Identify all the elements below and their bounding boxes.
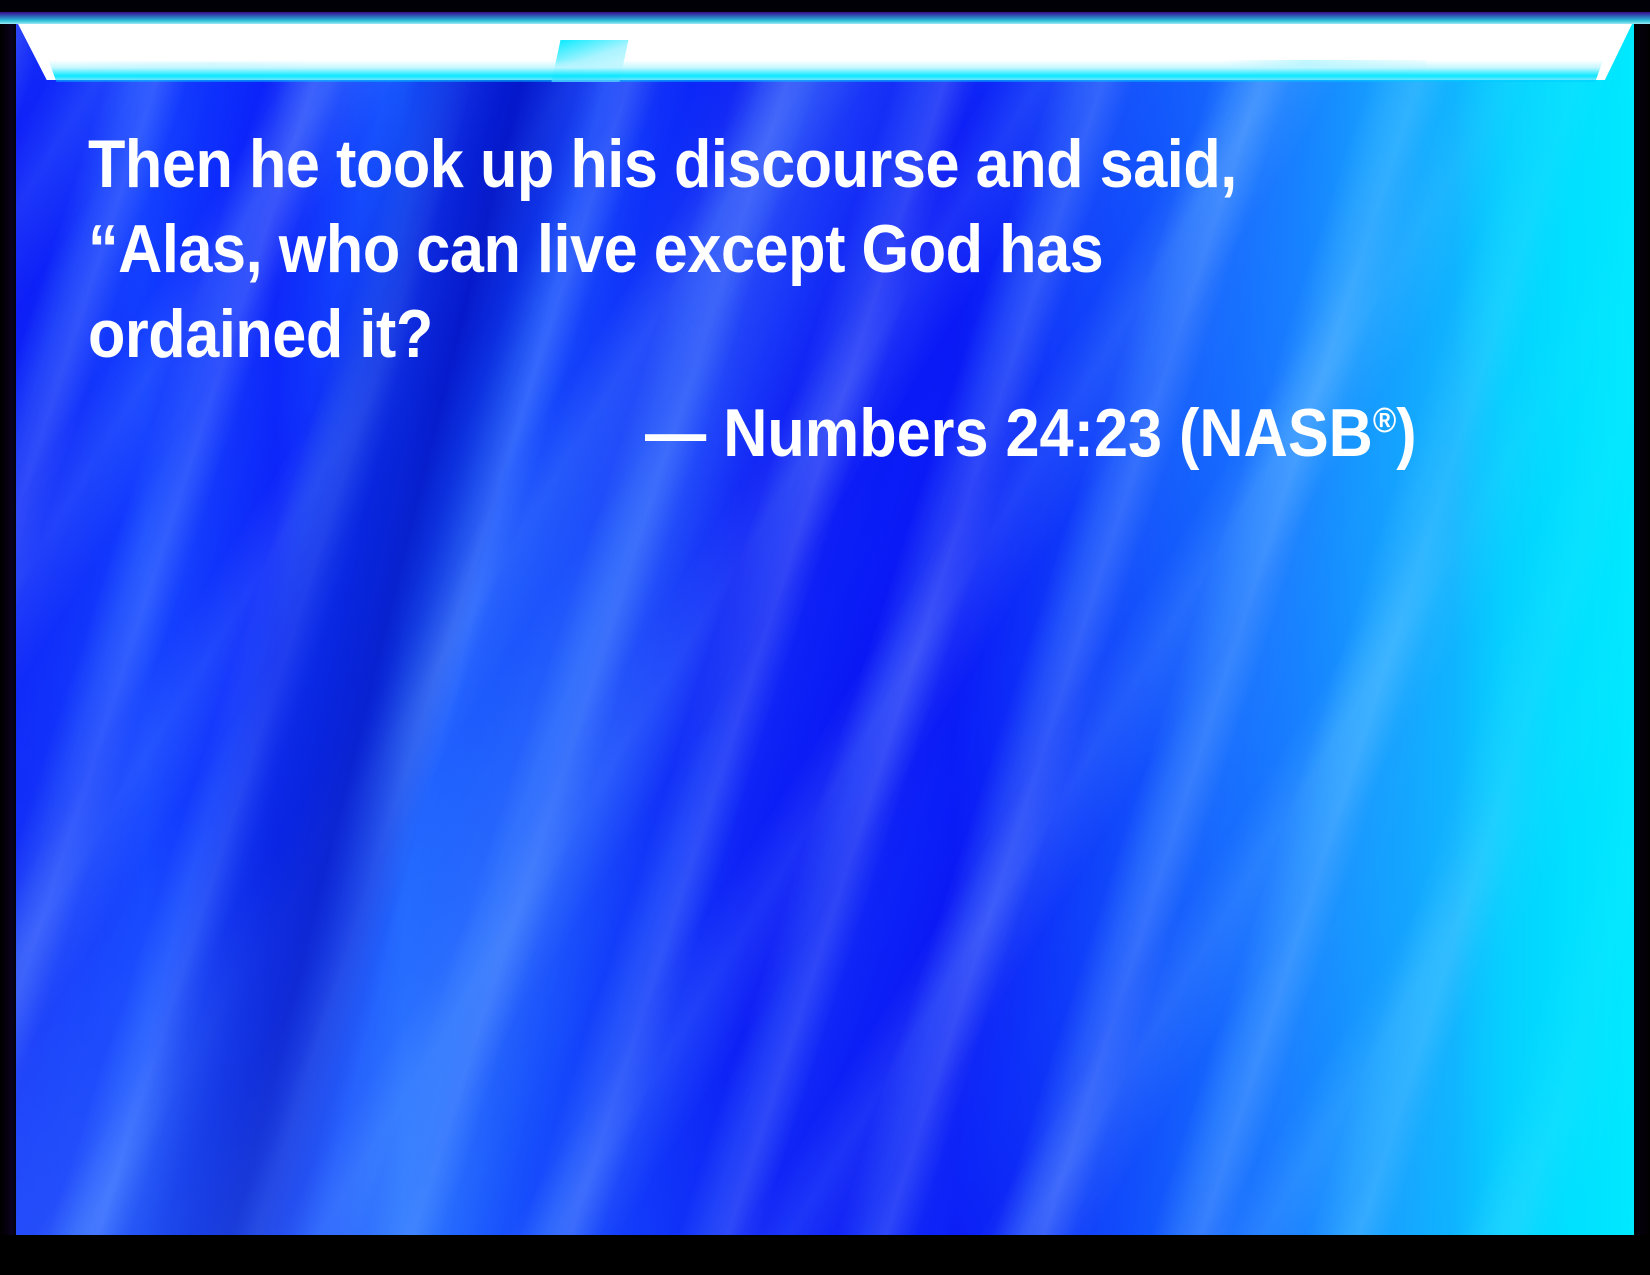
top-banner [16,20,1634,80]
frame-bottom [0,1235,1650,1275]
attribution-translation-close: ) [1396,395,1416,471]
verse-line-1: Then he took up his discourse and said, [88,122,1420,207]
attribution-translation-open: (NASB [1179,395,1373,471]
attribution-reference: 24:23 [1006,395,1163,471]
verse-attribution: — Numbers 24:23 (NASB®) [645,378,1417,476]
frame-top [0,0,1650,12]
attribution-book: Numbers [723,395,988,471]
attribution-dash: — [645,395,706,471]
banner-cyan-underline [16,60,1634,82]
verse-line-3: ordained it? [88,292,1420,377]
verse-slide: Then he took up his discourse and said, … [0,0,1650,1275]
verse-text-block: Then he took up his discourse and said, … [88,122,1568,377]
verse-line-2: “Alas, who can live except God has [88,207,1420,292]
frame-right [1634,0,1650,1275]
frame-left [0,0,16,1275]
registered-trademark-icon: ® [1373,401,1396,440]
